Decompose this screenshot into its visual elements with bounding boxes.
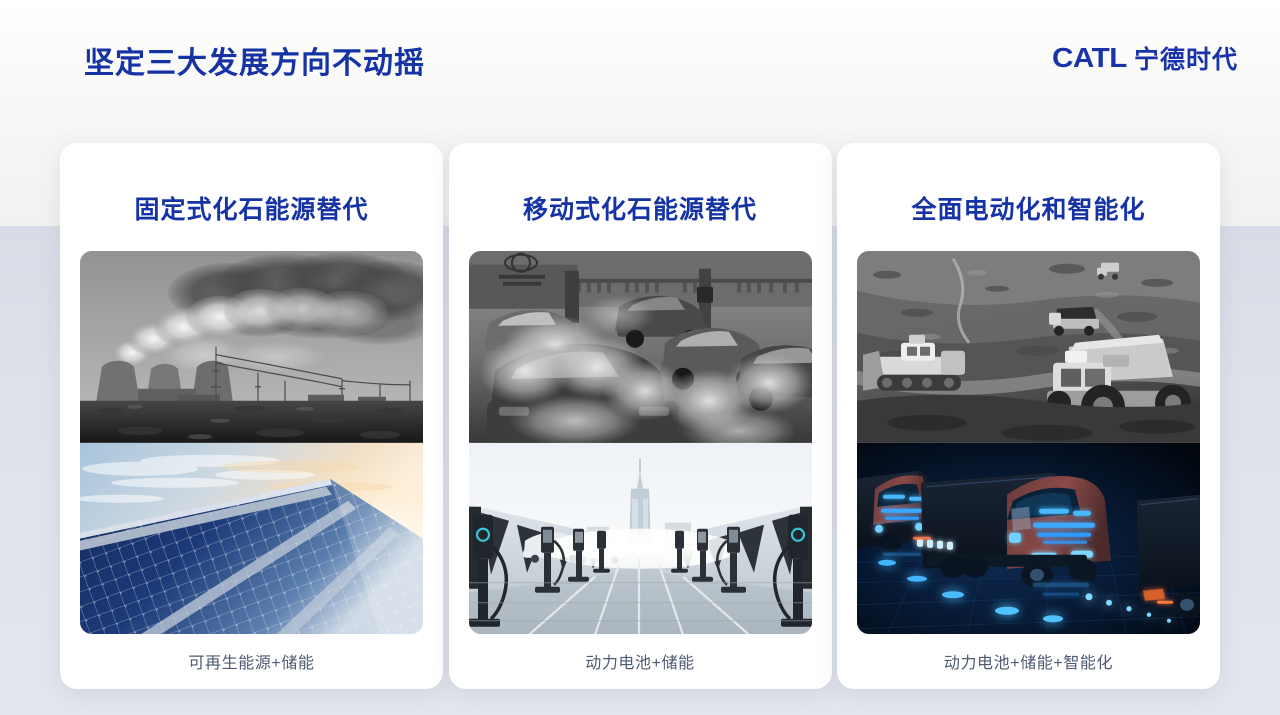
brand-chinese-name: 宁德时代 — [1134, 40, 1238, 76]
mining-site-illustration — [857, 251, 1200, 443]
image-traffic-exhaust — [469, 251, 812, 443]
card-row: 固定式化石能源替代 — [60, 143, 1220, 689]
slide-canvas: 坚定三大发展方向不动摇 CATL 宁德时代 固定式化石能源替代 — [0, 0, 1280, 715]
card-full-electrification[interactable]: 全面电动化和智能化 — [837, 143, 1220, 689]
charging-station-illustration — [469, 443, 812, 635]
card-caption: 动力电池+储能 — [585, 649, 695, 673]
card-title: 移动式化石能源替代 — [523, 190, 757, 226]
catl-logo: CATL 宁德时代 — [1052, 40, 1238, 76]
card-fixed-fossil-replacement[interactable]: 固定式化石能源替代 — [60, 143, 443, 689]
brand-latin-mark: CATL — [1052, 42, 1127, 74]
card-mobile-fossil-replacement[interactable]: 移动式化石能源替代 — [449, 143, 832, 689]
card-media-stack — [80, 251, 423, 634]
image-electric-trucks — [857, 443, 1200, 635]
solar-array-illustration — [80, 443, 423, 635]
image-coal-power-plant — [80, 251, 423, 443]
card-caption: 可再生能源+储能 — [188, 649, 314, 673]
slide-header: 坚定三大发展方向不动摇 CATL 宁德时代 — [0, 0, 1280, 120]
page-title: 坚定三大发展方向不动摇 — [84, 38, 425, 82]
image-solar-panels — [80, 443, 423, 635]
card-media-stack — [469, 251, 812, 634]
smart-electric-trucks-illustration — [857, 443, 1200, 635]
card-caption: 动力电池+储能+智能化 — [944, 649, 1113, 673]
card-media-stack — [857, 251, 1200, 634]
card-title: 全面电动化和智能化 — [911, 190, 1145, 226]
image-ev-charging-plaza — [469, 443, 812, 635]
coal-plant-illustration — [80, 251, 423, 443]
card-title: 固定式化石能源替代 — [134, 190, 368, 226]
image-open-pit-mine — [857, 251, 1200, 443]
traffic-smog-illustration — [469, 251, 812, 443]
